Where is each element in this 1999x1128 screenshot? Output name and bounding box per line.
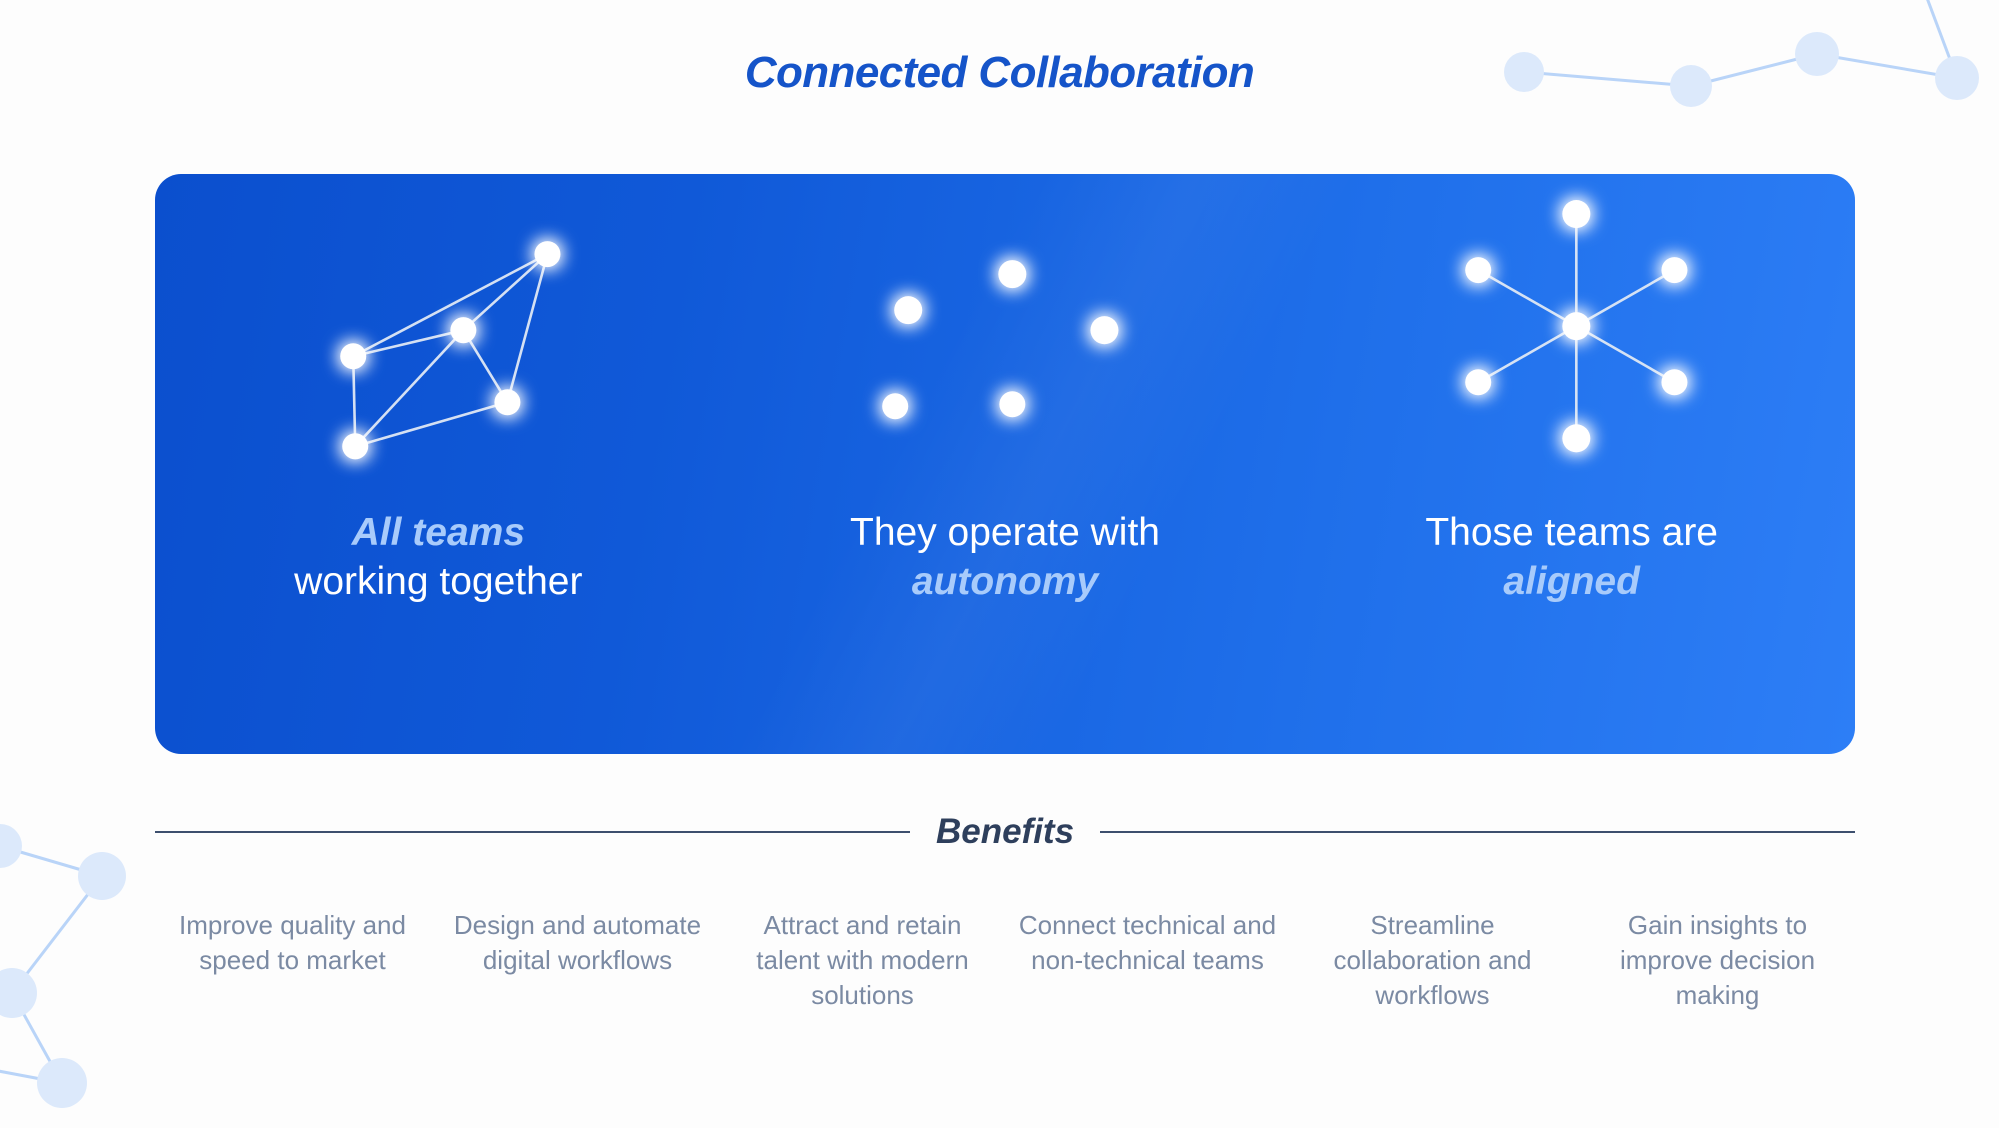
connected-network-graph-icon bbox=[155, 174, 722, 504]
benefits-title: Benefits bbox=[936, 812, 1074, 852]
network-node bbox=[494, 389, 520, 415]
panel-column-autonomy: They operate with autonomy bbox=[722, 174, 1289, 754]
benefit-item: Streamline collaboration and workflows bbox=[1290, 908, 1575, 1013]
caption-highlight: All teams bbox=[352, 511, 525, 554]
decor-node bbox=[0, 824, 22, 868]
caption-highlight: aligned bbox=[1503, 560, 1640, 603]
independent-node bbox=[882, 393, 908, 419]
scattered-independent-nodes-icon bbox=[722, 174, 1289, 504]
spoke-node bbox=[1466, 369, 1492, 395]
hub-node bbox=[1563, 312, 1591, 340]
hub-and-spoke-star-icon bbox=[1288, 174, 1855, 504]
caption-plain: They operate with bbox=[850, 511, 1160, 554]
panel-caption-autonomy: They operate with autonomy bbox=[850, 508, 1160, 606]
page-title: Connected Collaboration bbox=[0, 48, 1999, 98]
panel-caption-aligned: Those teams are aligned bbox=[1425, 508, 1718, 606]
caption-plain: working together bbox=[294, 560, 582, 603]
caption-plain: Those teams are bbox=[1425, 511, 1718, 554]
independent-node bbox=[894, 296, 922, 324]
network-node bbox=[342, 433, 368, 459]
caption-highlight: autonomy bbox=[912, 560, 1098, 603]
benefit-item: Connect technical and non-technical team… bbox=[1005, 908, 1290, 1013]
panel-caption-all-teams: All teams working together bbox=[294, 508, 582, 606]
decor-node bbox=[0, 968, 37, 1018]
spoke-node bbox=[1466, 257, 1492, 283]
divider-line-right bbox=[1100, 831, 1855, 833]
divider-line-left bbox=[155, 831, 910, 833]
spoke-node bbox=[1662, 369, 1688, 395]
spoke-node bbox=[1563, 424, 1591, 452]
spoke-node bbox=[1662, 257, 1688, 283]
decor-node bbox=[37, 1058, 87, 1108]
network-node bbox=[450, 317, 476, 343]
panel-column-all-teams: All teams working together bbox=[155, 174, 722, 754]
benefits-list: Improve quality and speed to market Desi… bbox=[150, 908, 1860, 1013]
independent-node bbox=[998, 260, 1026, 288]
benefit-item: Design and automate digital workflows bbox=[435, 908, 720, 1013]
independent-node bbox=[999, 391, 1025, 417]
connected-collaboration-panel: All teams working together bbox=[155, 174, 1855, 754]
network-node bbox=[340, 343, 366, 369]
benefit-item: Gain insights to improve decision making bbox=[1575, 908, 1860, 1013]
benefit-item: Improve quality and speed to market bbox=[150, 908, 435, 1013]
benefit-item: Attract and retain talent with modern so… bbox=[720, 908, 1005, 1013]
independent-node bbox=[1090, 316, 1118, 344]
spoke-node bbox=[1563, 200, 1591, 228]
decor-node bbox=[78, 852, 126, 900]
benefits-section-header: Benefits bbox=[155, 812, 1855, 852]
panel-column-aligned: Those teams are aligned bbox=[1288, 174, 1855, 754]
network-node bbox=[534, 241, 560, 267]
